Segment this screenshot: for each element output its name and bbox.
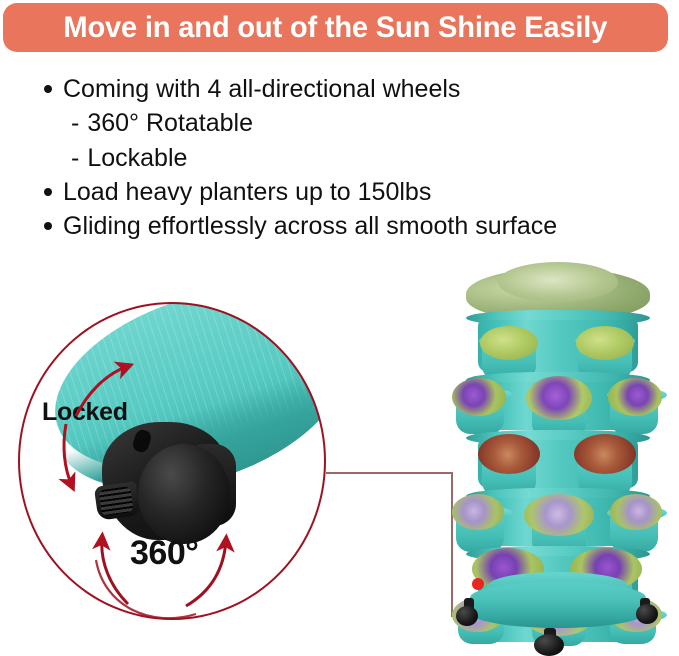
list-item-label: Load heavy planters up to 150lbs — [63, 175, 431, 209]
stackable-planter-product-image — [452, 272, 664, 654]
list-item-label: Lockable — [87, 141, 187, 175]
plant-green-leafy — [480, 326, 538, 360]
plant-green-leafy — [576, 326, 634, 360]
list-item: Gliding effortlessly across all smooth s… — [44, 209, 674, 243]
planter-base-tray — [470, 582, 646, 628]
list-item-label: Gliding effortlessly across all smooth s… — [63, 209, 557, 243]
rotation-label: 360° — [130, 534, 198, 573]
bullet-icon — [44, 222, 52, 230]
tier-3 — [452, 430, 664, 488]
plant-top-crown-highlight — [498, 262, 618, 302]
list-item: - Lockable — [44, 141, 674, 175]
plant-bronze-bromeliad — [478, 434, 540, 474]
plant-purple-flowers — [526, 376, 592, 420]
plant-lavender-trailing — [524, 494, 594, 536]
base-caster-wheel — [456, 606, 478, 626]
page-title: Move in and out of the Sun Shine Easily — [64, 13, 608, 43]
bullet-icon — [44, 188, 52, 196]
bullet-icon — [44, 85, 52, 93]
list-item-label: Coming with 4 all-directional wheels — [63, 72, 460, 106]
base-caster-wheel — [636, 604, 658, 624]
tier-4 — [452, 488, 664, 546]
header-banner: Move in and out of the Sun Shine Easily — [3, 3, 668, 52]
list-item-label: 360° Rotatable — [87, 106, 253, 140]
plant-purple-flowers — [452, 378, 506, 416]
plant-lavender-trailing — [452, 494, 504, 530]
list-item: - 360° Rotatable — [44, 106, 674, 140]
dash-icon: - — [71, 106, 79, 140]
feature-list: Coming with 4 all-directional wheels - 3… — [44, 72, 674, 243]
connector-endpoint-dot — [472, 578, 484, 590]
tier-top — [452, 310, 664, 372]
plant-lavender-trailing — [610, 494, 662, 530]
dash-icon: - — [71, 141, 79, 175]
locked-label: Locked — [42, 398, 128, 427]
list-item: Coming with 4 all-directional wheels — [44, 72, 674, 106]
tier-2 — [452, 372, 664, 430]
plant-purple-flowers — [608, 378, 662, 416]
plant-bronze-bromeliad — [574, 434, 636, 474]
base-caster-wheel — [534, 634, 564, 656]
list-item: Load heavy planters up to 150lbs — [44, 175, 674, 209]
